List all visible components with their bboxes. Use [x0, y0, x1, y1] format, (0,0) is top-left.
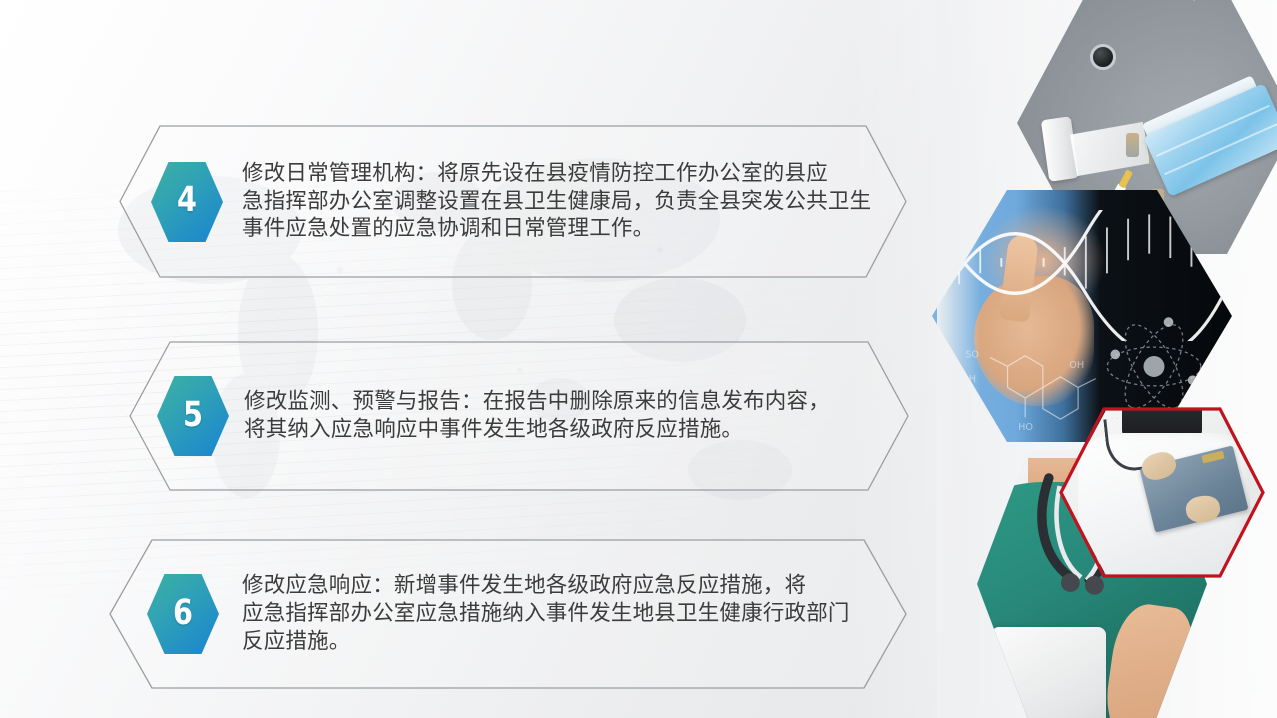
svg-text:OH: OH [1069, 360, 1084, 371]
photo-collage: SOH HOOH [937, 0, 1277, 718]
badge-number-label: 5 [163, 374, 224, 456]
chemical-formula-overlay: SOH HOOH [956, 331, 1112, 437]
content-row-5[interactable]: 5 修改监测、预警与报告：在报告中删除原来的信息发布内容， 将其纳入应急响应中事… [128, 340, 910, 492]
content-row-6[interactable]: 6 修改应急响应：新增事件发生地各级政府应急反应措施，将 应急指挥部办公室应急措… [108, 538, 908, 690]
content-rows: 4 修改日常管理机构：将原先设在县疫情防控工作办公室的县应 急指挥部办公室调整设… [0, 0, 960, 718]
stethoscope-head-icon [1090, 44, 1116, 70]
laptop [991, 627, 1106, 718]
badge-number-label: 4 [157, 160, 218, 242]
slide-canvas: 4 修改日常管理机构：将原先设在县疫情防控工作办公室的县应 急指挥部办公室调整设… [0, 0, 1277, 718]
content-row-4[interactable]: 4 修改日常管理机构：将原先设在县疫情防控工作办公室的县应 急指挥部办公室调整设… [118, 124, 908, 279]
ampoule [1126, 133, 1139, 157]
badge-number-label: 6 [153, 572, 214, 654]
hexagon-badge-5[interactable]: 5 [156, 375, 230, 457]
hexagon-badge-4[interactable]: 4 [150, 161, 224, 243]
row-text-4: 修改日常管理机构：将原先设在县疫情防控工作办公室的县应 急指挥部办公室调整设置在… [242, 160, 872, 244]
svg-text:SO: SO [965, 350, 979, 361]
row-text-5: 修改监测、预警与报告：在报告中删除原来的信息发布内容， 将其纳入应急响应中事件发… [244, 388, 874, 444]
svg-text:HO: HO [1018, 422, 1033, 433]
hexagon-badge-6[interactable]: 6 [146, 573, 220, 655]
stethoscope-tube-icon [1101, 0, 1197, 3]
row-text-6: 修改应急响应：新增事件发生地各级政府应急反应措施，将 应急指挥部办公室应急措施纳… [242, 572, 862, 656]
svg-text:H: H [969, 374, 976, 385]
